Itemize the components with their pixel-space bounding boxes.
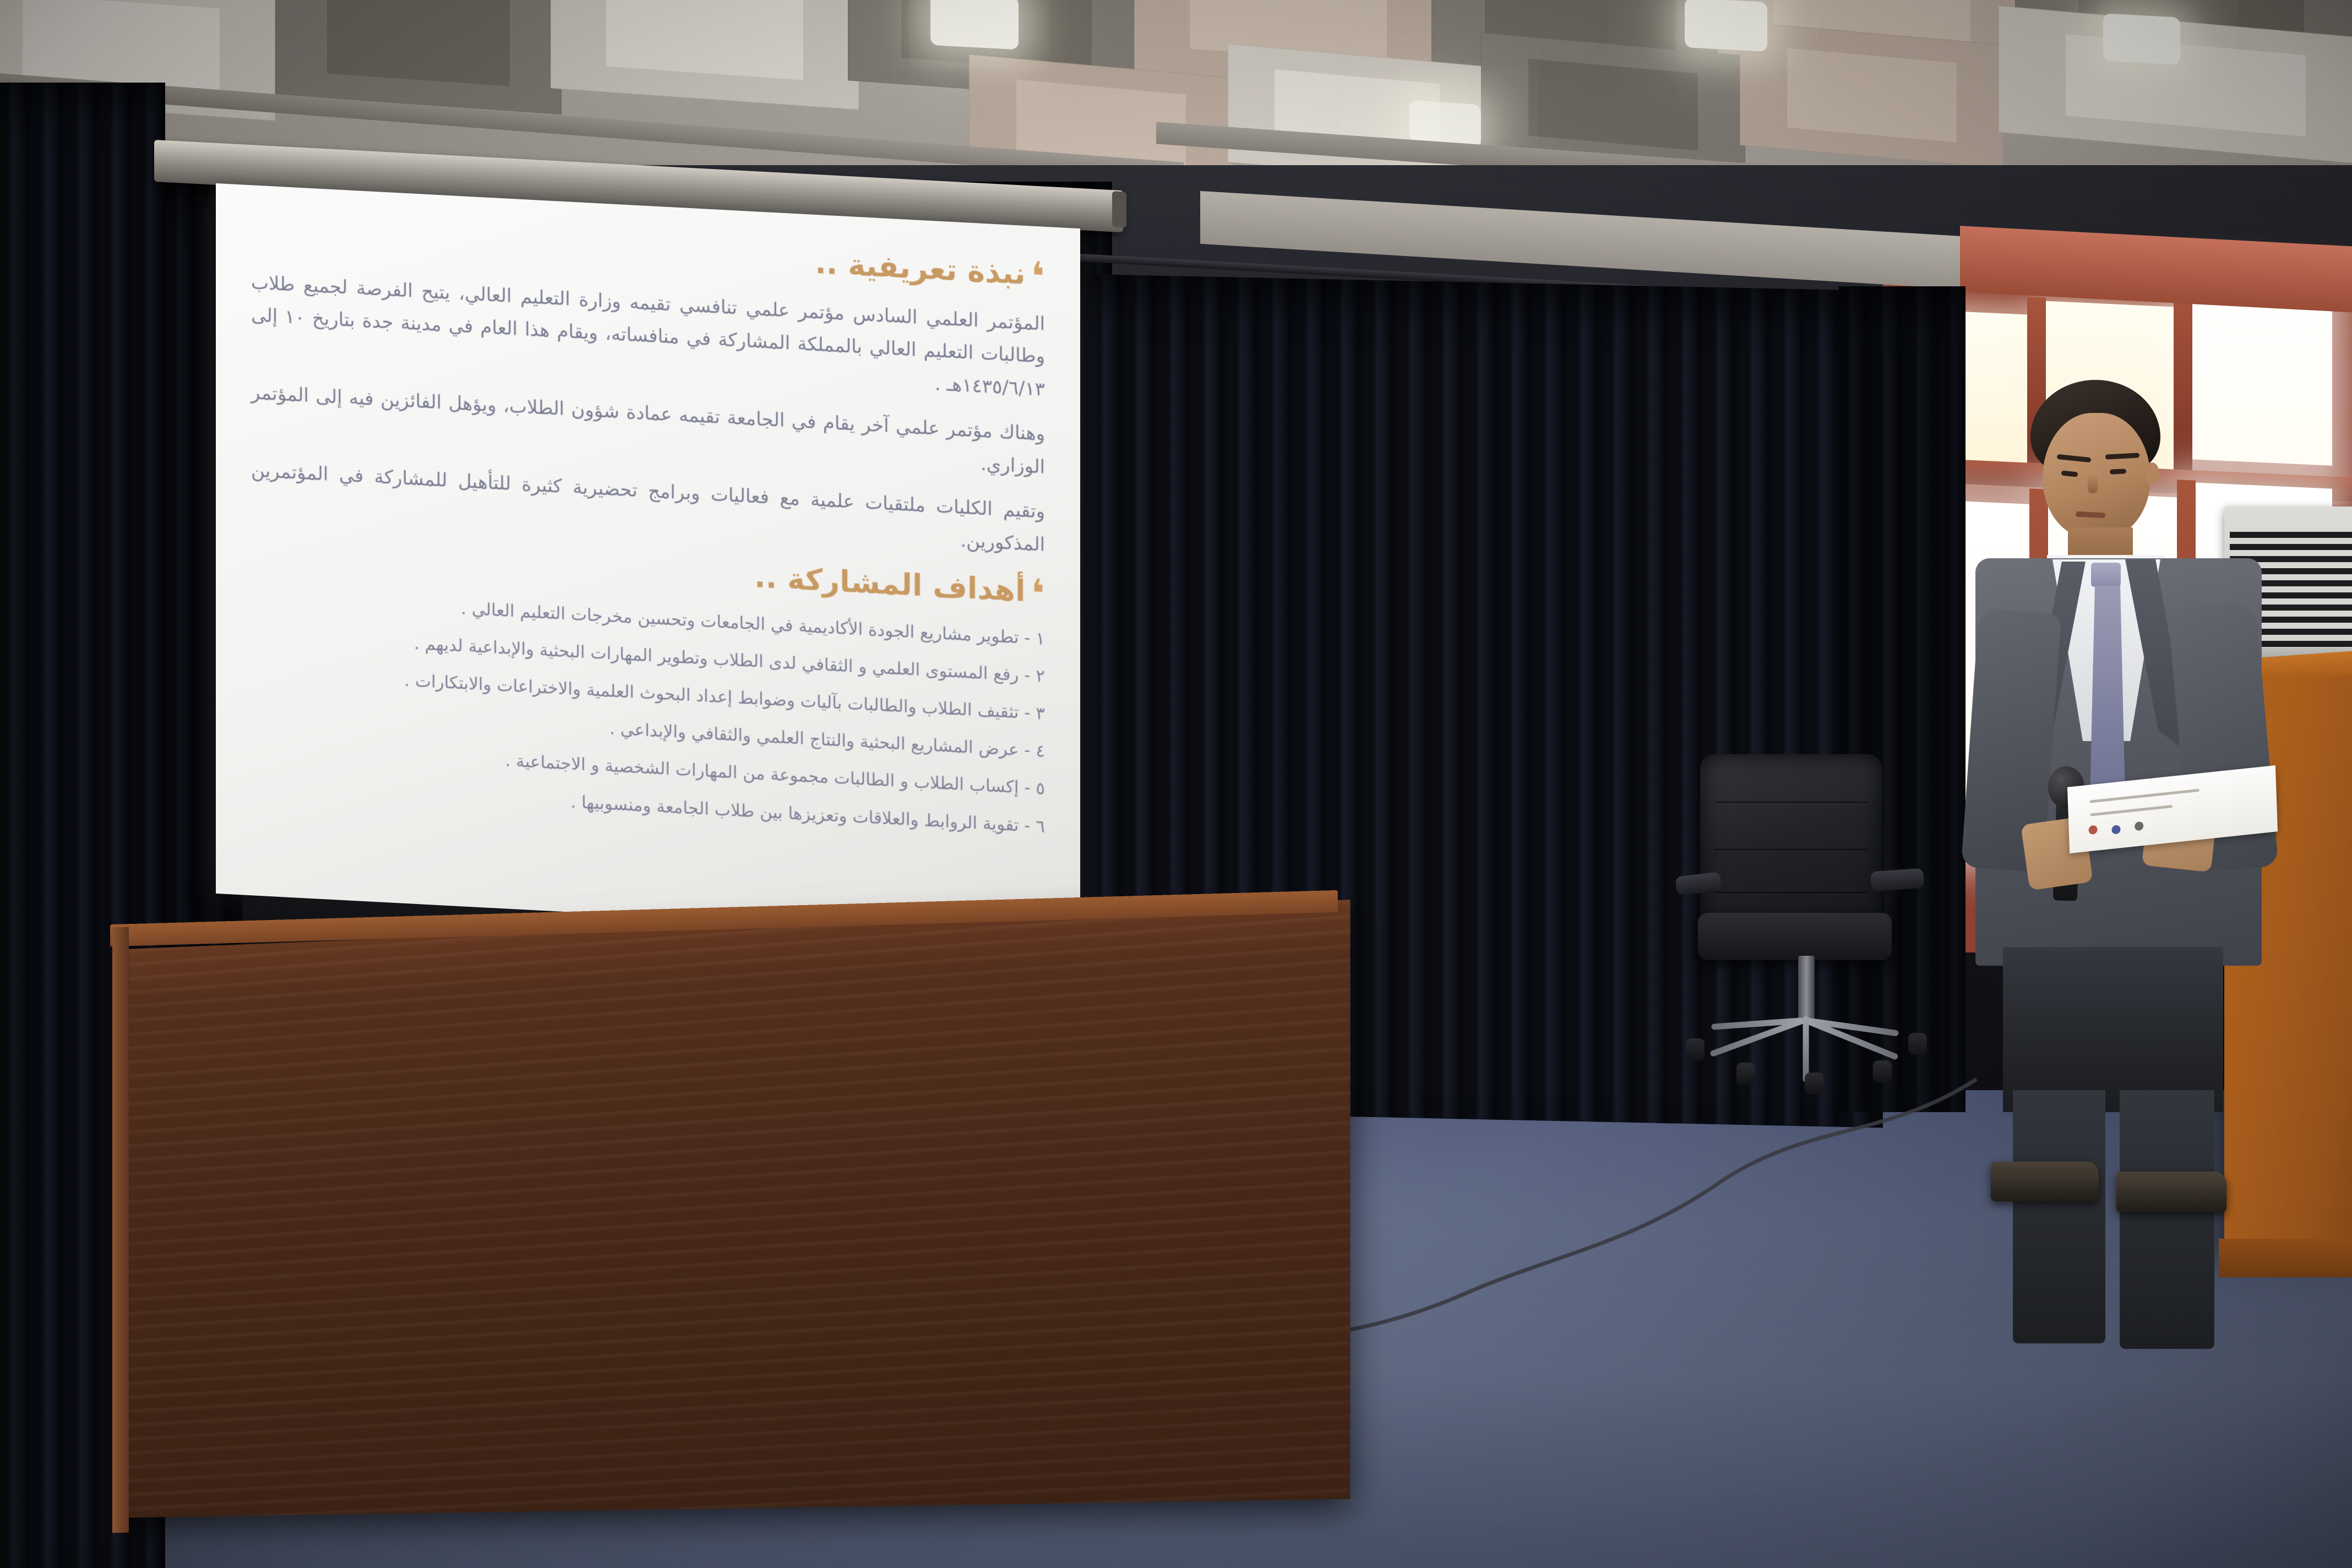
quote-mark-icon: ❛ bbox=[1031, 264, 1045, 289]
ear bbox=[2145, 462, 2159, 484]
shoe-right bbox=[2116, 1172, 2226, 1212]
wooden-desk[interactable] bbox=[129, 900, 1351, 1518]
eye bbox=[2110, 469, 2126, 475]
quote-mark-icon: ❛ bbox=[1031, 581, 1045, 606]
leg-left bbox=[2013, 1090, 2105, 1343]
screen-case-endcap bbox=[1112, 191, 1126, 228]
chair-backrest bbox=[1700, 754, 1882, 936]
conference-hall-photo: ❛نبذة تعريفية .. المؤتمر العلمي السادس م… bbox=[0, 0, 2352, 1568]
slide-content: ❛نبذة تعريفية .. المؤتمر العلمي السادس م… bbox=[216, 183, 1080, 939]
ceiling-light-icon bbox=[2103, 13, 2180, 64]
chair-armrest-right bbox=[1870, 868, 1924, 892]
ceiling-coffer bbox=[1740, 21, 2004, 168]
male-speaker-reading[interactable] bbox=[1960, 380, 2312, 1294]
ceiling-light-icon bbox=[1685, 0, 1767, 52]
projection-screen[interactable]: ❛نبذة تعريفية .. المؤتمر العلمي السادس م… bbox=[216, 183, 1080, 939]
chair-gas-post bbox=[1798, 956, 1815, 1021]
chair-caster bbox=[1805, 1072, 1823, 1095]
tie-knot-front bbox=[2091, 563, 2121, 587]
trousers bbox=[2003, 947, 2223, 1112]
chair-leg bbox=[1803, 1016, 1809, 1082]
desk-left-edge bbox=[112, 927, 129, 1533]
chair-caster bbox=[1736, 1063, 1755, 1085]
office-chair[interactable] bbox=[1668, 754, 1954, 1156]
ceiling-coffer bbox=[551, 0, 859, 110]
chair-seat bbox=[1698, 913, 1892, 960]
shoe-left bbox=[1991, 1162, 2099, 1201]
desk-wood-grain bbox=[129, 900, 1351, 1518]
ceiling-light-icon bbox=[930, 0, 1019, 50]
nose bbox=[2088, 475, 2098, 493]
chair-caster bbox=[1908, 1033, 1927, 1055]
leg-right bbox=[2120, 1090, 2214, 1349]
chair-caster bbox=[1873, 1060, 1892, 1082]
ceiling-light-icon bbox=[1409, 100, 1481, 146]
chair-caster bbox=[1686, 1038, 1705, 1060]
screen-left-edge bbox=[204, 208, 216, 924]
